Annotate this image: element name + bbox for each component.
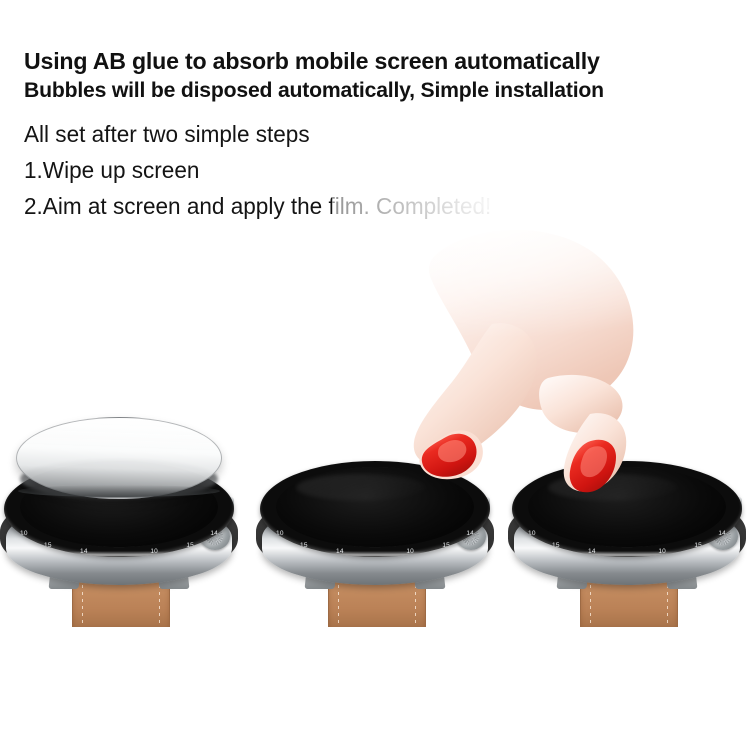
watch-stage-3: 10 15 14 10 15 14 (502, 427, 750, 632)
step-item-1: 1.Wipe up screen (24, 152, 720, 188)
screen-protector-film (16, 417, 222, 499)
display-reflection (296, 474, 427, 501)
steps-intro: All set after two simple steps (24, 116, 720, 152)
bezel-number: 14 (718, 530, 726, 537)
marketing-copy: Using AB glue to absorb mobile screen au… (24, 46, 734, 224)
display-reflection (548, 474, 679, 501)
hand-back (429, 230, 633, 410)
film-edge (18, 485, 220, 497)
bezel-highlight (16, 551, 223, 556)
bezel-number: 15 (186, 542, 194, 549)
watch-stage-1: 10 15 14 10 15 14 (0, 427, 244, 632)
bezel-number: 15 (442, 542, 450, 549)
bezel-number: 15 (694, 542, 702, 549)
steps-list: All set after two simple steps 1.Wipe up… (24, 116, 734, 224)
headline-primary: Using AB glue to absorb mobile screen au… (24, 46, 723, 76)
watch-stage-2: 10 15 14 10 15 14 (250, 427, 500, 632)
product-infographic: Using AB glue to absorb mobile screen au… (0, 0, 750, 750)
bezel-number: 10 (20, 530, 28, 537)
headline-secondary: Bubbles will be disposed automatically, … (24, 76, 723, 105)
bezel-number: 14 (210, 530, 218, 537)
bezel-number: 10 (528, 530, 536, 537)
bezel-number: 14 (466, 530, 474, 537)
installation-sequence: 10 15 14 10 15 14 (0, 405, 750, 655)
step-item-2: 2.Aim at screen and apply the film. Comp… (24, 188, 720, 224)
bezel-number: 15 (300, 542, 308, 549)
watch-display (528, 467, 726, 547)
bezel-number: 15 (552, 542, 560, 549)
watch-display (276, 467, 474, 547)
bezel-number: 15 (44, 542, 52, 549)
bezel-highlight (524, 551, 731, 556)
bezel-number: 10 (276, 530, 284, 537)
bezel-highlight (272, 551, 479, 556)
